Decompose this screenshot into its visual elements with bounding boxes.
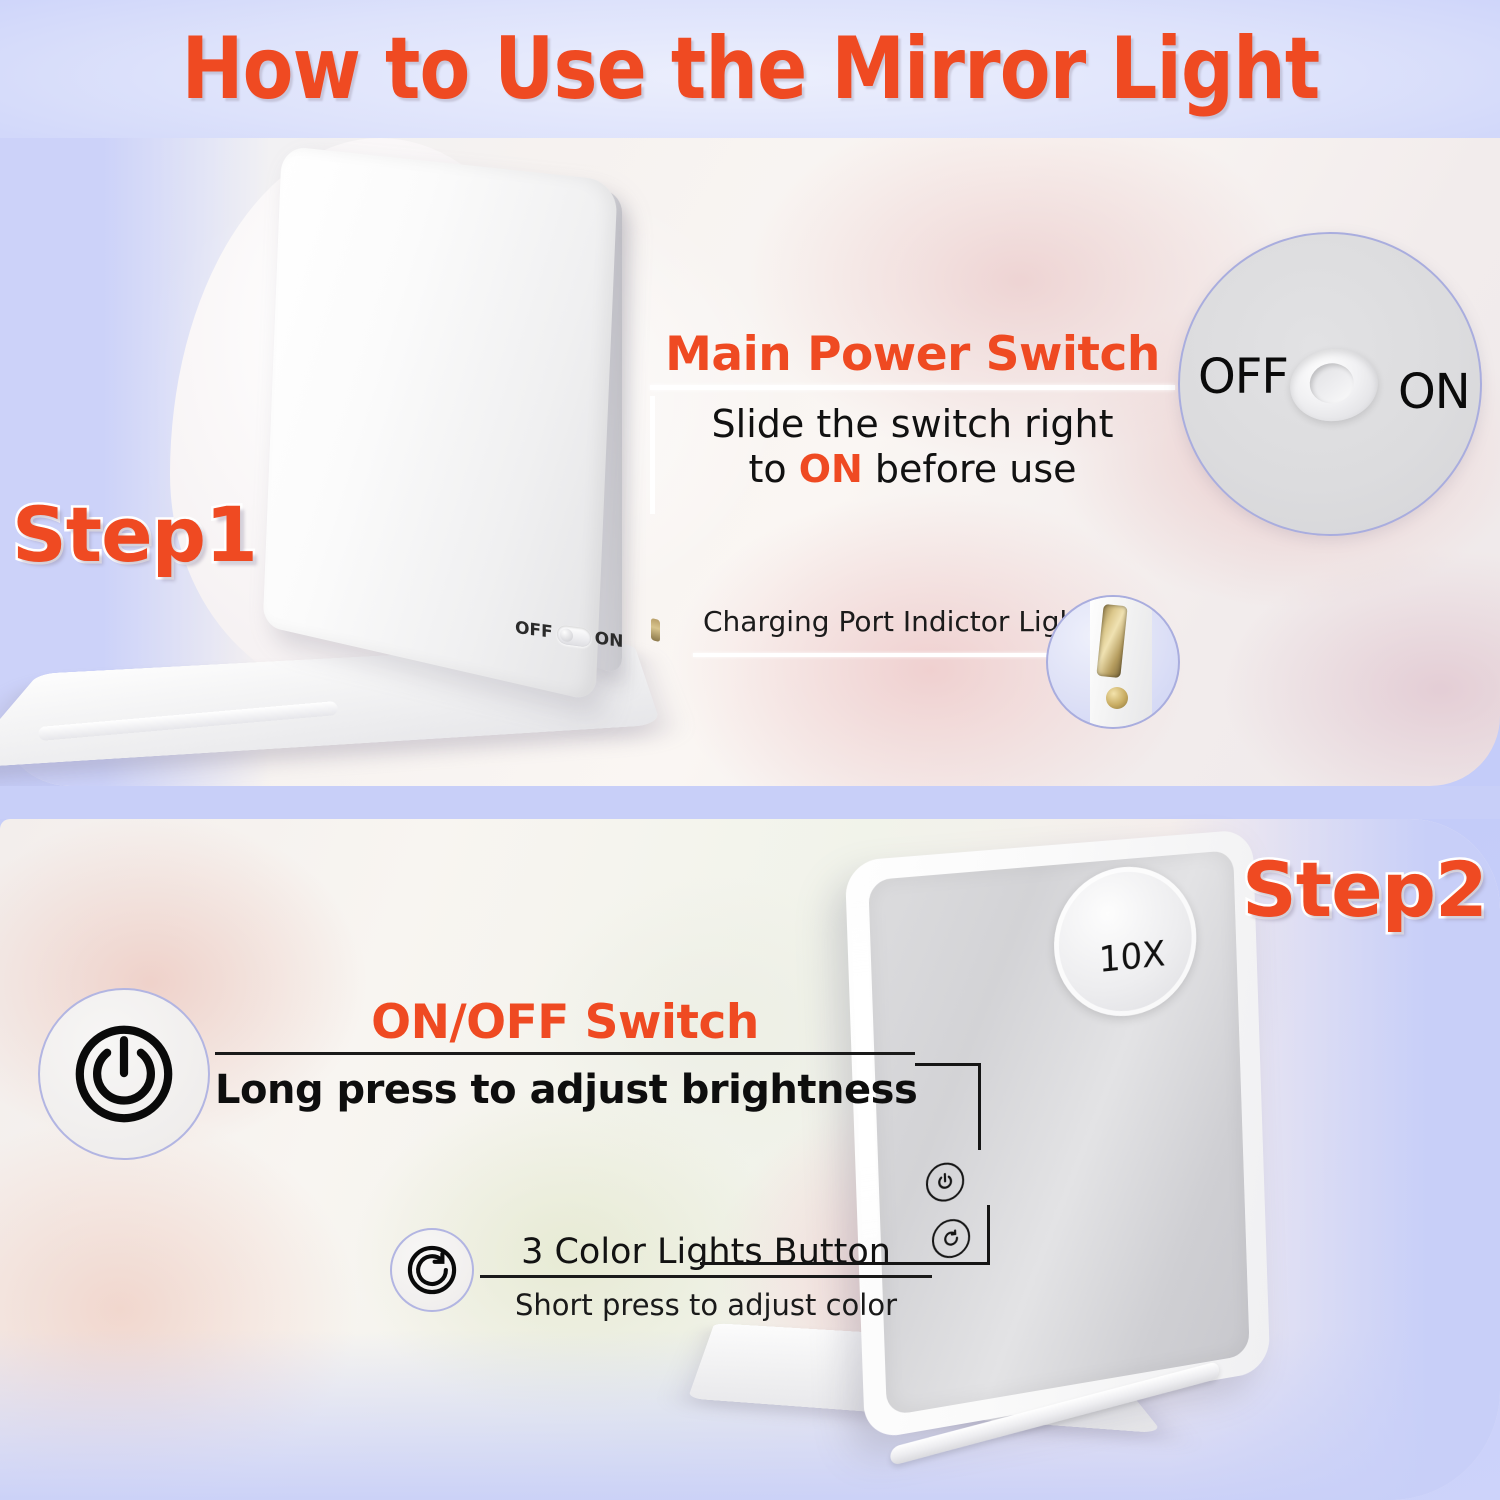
infographic-page: How to Use the Mirror Light OFF ON Step1… <box>0 0 1500 1500</box>
color-button-instruction: Short press to adjust color <box>480 1288 932 1322</box>
step2-mirror-frame: 10X <box>845 829 1271 1441</box>
charging-port-callout: Charging Port Indictor Lights <box>703 605 1053 638</box>
page-title: How to Use the Mirror Light <box>181 19 1319 119</box>
onoff-switch-divider <box>215 1052 915 1055</box>
onoff-switch-callout: ON/OFF Switch Long press to adjust brigh… <box>215 995 915 1113</box>
switch-magnified-callout: OFF ON <box>1178 232 1482 536</box>
onoff-switch-icon-badge <box>38 988 210 1160</box>
main-power-instruction-prefix: to <box>748 447 798 491</box>
indicator-light-icon <box>1106 687 1128 709</box>
magnified-switch-off-label: OFF <box>1198 349 1288 405</box>
main-power-switch-title: Main Power Switch <box>650 330 1175 379</box>
main-power-divider <box>650 385 1175 390</box>
magnified-switch-on-label: ON <box>1398 364 1470 420</box>
color-button-title: 3 Color Lights Button <box>480 1232 932 1272</box>
color-button-icon-badge <box>390 1228 474 1312</box>
step1-label: Step1 <box>12 490 257 579</box>
main-power-instruction-highlight: ON <box>799 447 863 491</box>
magnifier-label: 10X <box>1098 933 1166 980</box>
power-icon <box>935 1171 956 1194</box>
color-button-callout: 3 Color Lights Button Short press to adj… <box>480 1232 932 1322</box>
leader-line-power-horizontal <box>915 1063 981 1066</box>
main-power-bracket-tick <box>650 396 655 514</box>
panel-gap-band <box>0 786 1500 819</box>
main-power-switch-callout: Main Power Switch Slide the switch right… <box>650 330 1175 492</box>
onoff-switch-title: ON/OFF Switch <box>215 995 915 1050</box>
device-switch-knob[interactable] <box>557 624 591 647</box>
device-switch-on-label: ON <box>595 628 624 652</box>
page-title-bar: How to Use the Mirror Light <box>0 0 1500 138</box>
main-power-instruction-line1: Slide the switch right <box>712 402 1114 446</box>
step1-mirror-device: OFF ON <box>0 138 760 786</box>
charging-port-on-device <box>651 618 660 643</box>
leader-line-color-horizontal <box>700 1262 990 1265</box>
charging-port-divider <box>693 653 1065 657</box>
mirror-back-panel <box>263 146 618 702</box>
color-cycle-icon <box>941 1227 962 1250</box>
color-cycle-icon <box>406 1244 458 1296</box>
step2-label: Step2 <box>1242 845 1487 934</box>
step2-mirror-device: 10X <box>855 845 1325 1465</box>
onoff-switch-instruction: Long press to adjust brightness <box>215 1067 915 1113</box>
main-power-instruction-suffix: before use <box>863 447 1077 491</box>
main-power-instruction: Slide the switch right to ON before use <box>650 402 1175 492</box>
power-icon <box>72 1022 176 1126</box>
magnified-switch-knob[interactable] <box>1285 343 1382 427</box>
leader-line-power-vertical <box>978 1063 981 1150</box>
charging-port-label: Charging Port Indictor Lights <box>703 605 1053 638</box>
color-button-divider <box>480 1275 932 1278</box>
leader-line-color-vertical <box>987 1205 990 1265</box>
charging-port-magnified-callout <box>1046 595 1180 729</box>
